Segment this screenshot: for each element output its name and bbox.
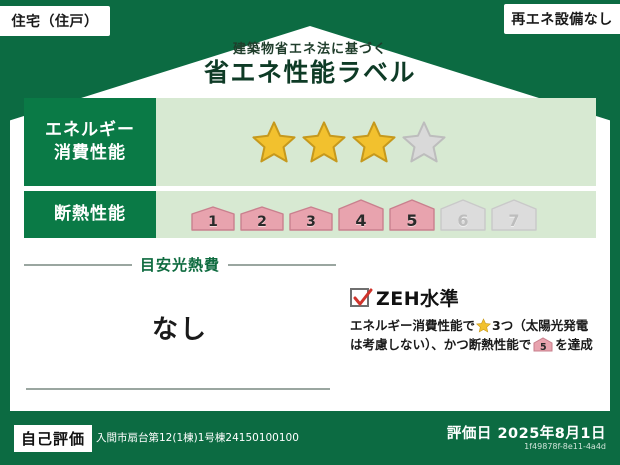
insulation-level-label: 3 bbox=[288, 215, 334, 229]
insulation-level-2: 2 bbox=[239, 205, 285, 232]
star-rating bbox=[252, 120, 446, 164]
zeh-desc-part1: エネルギー消費性能で bbox=[350, 318, 475, 333]
insulation-level-label: 1 bbox=[190, 215, 236, 229]
zeh-title: ZEH水準 bbox=[376, 284, 459, 311]
utility-cost-bottom-rule bbox=[26, 388, 330, 390]
utility-cost-value: なし bbox=[24, 309, 336, 346]
utility-cost-heading: 目安光熱費 bbox=[140, 254, 220, 275]
zeh-checkbox[interactable] bbox=[350, 288, 369, 307]
insulation-level-label: 6 bbox=[439, 213, 487, 229]
insulation-level-5: 5 bbox=[388, 198, 436, 232]
insulation-level-label: 5 bbox=[388, 213, 436, 229]
zeh-desc-part3: を達成 bbox=[555, 337, 593, 352]
check-icon bbox=[352, 287, 374, 309]
page-title: 省エネ性能ラベル bbox=[0, 59, 620, 87]
zeh-description: エネルギー消費性能で3つ（太陽光発電 は考慮しない）、かつ断熱性能で5を達成 bbox=[350, 316, 596, 355]
zeh-block: ZEH水準 エネルギー消費性能で3つ（太陽光発電 は考慮しない）、かつ断熱性能で… bbox=[336, 252, 596, 402]
property-address: 入間市扇台第12(1棟)1号棟24150100100 bbox=[96, 430, 299, 445]
evaluation-date: 評価日 2025年8月1日 bbox=[447, 422, 606, 443]
badge-renewable-energy: 再エネ設備なし bbox=[504, 4, 620, 34]
star-icon-inline bbox=[476, 318, 491, 333]
badge-building-type: 住宅（住戸） bbox=[0, 6, 110, 36]
zeh-desc-part2: は考慮しない）、かつ断熱性能で bbox=[350, 337, 531, 352]
insulation-chip-inline: 5 bbox=[533, 337, 553, 352]
self-evaluation-badge: 自己評価 bbox=[14, 425, 92, 452]
energy-label-root: 住宅（住戸） 再エネ設備なし 建築物省エネ法に基づく 省エネ性能ラベル エネルギ… bbox=[0, 0, 620, 465]
document-id: 1f49878f-8e11-4a4d bbox=[524, 442, 606, 451]
insulation-level-3: 3 bbox=[288, 205, 334, 232]
heading-rule-left bbox=[24, 264, 132, 266]
zeh-desc-stars: 3つ（太陽光発電 bbox=[492, 318, 588, 333]
zeh-heading-row: ZEH水準 bbox=[350, 284, 596, 311]
title-block: 建築物省エネ法に基づく 省エネ性能ラベル bbox=[0, 38, 620, 87]
energy-performance-label: エネルギー 消費性能 bbox=[24, 98, 156, 186]
star-icon-filled bbox=[352, 120, 396, 164]
energy-performance-value bbox=[156, 98, 596, 186]
insulation-level-4: 4 bbox=[337, 198, 385, 232]
star-icon-empty bbox=[402, 120, 446, 164]
insulation-chip-inline-value: 5 bbox=[533, 343, 553, 353]
energy-label-line1: エネルギー bbox=[45, 119, 135, 142]
insulation-performance-label: 断熱性能 bbox=[24, 191, 156, 238]
row-insulation-performance: 断熱性能 1234567 bbox=[24, 191, 596, 238]
utility-cost-block: 目安光熱費 なし bbox=[24, 252, 336, 402]
insulation-performance-value: 1234567 bbox=[156, 191, 596, 238]
insulation-level-label: 4 bbox=[337, 213, 385, 229]
insulation-level-7: 7 bbox=[490, 198, 538, 232]
insulation-level-label: 7 bbox=[490, 213, 538, 229]
row-energy-performance: エネルギー 消費性能 bbox=[24, 98, 596, 186]
energy-label-line2: 消費性能 bbox=[54, 142, 126, 165]
star-icon-filled bbox=[252, 120, 296, 164]
utility-cost-heading-row: 目安光熱費 bbox=[24, 254, 336, 275]
insulation-level-label: 2 bbox=[239, 215, 285, 229]
insulation-level-1: 1 bbox=[190, 205, 236, 232]
insulation-level-6: 6 bbox=[439, 198, 487, 232]
footer: 自己評価 入間市扇台第12(1棟)1号棟24150100100 評価日 2025… bbox=[0, 411, 620, 465]
insulation-level-scale: 1234567 bbox=[190, 198, 538, 232]
star-icon-filled bbox=[302, 120, 346, 164]
heading-rule-right bbox=[228, 264, 336, 266]
lower-section: 目安光熱費 なし ZEH水準 エネルギー消費性能で3つ（太陽光発電 bbox=[24, 252, 596, 402]
label-body: エネルギー 消費性能 断熱性能 1234567 目安光熱費 なし bbox=[24, 98, 596, 398]
title-subtitle: 建築物省エネ法に基づく bbox=[0, 38, 620, 57]
